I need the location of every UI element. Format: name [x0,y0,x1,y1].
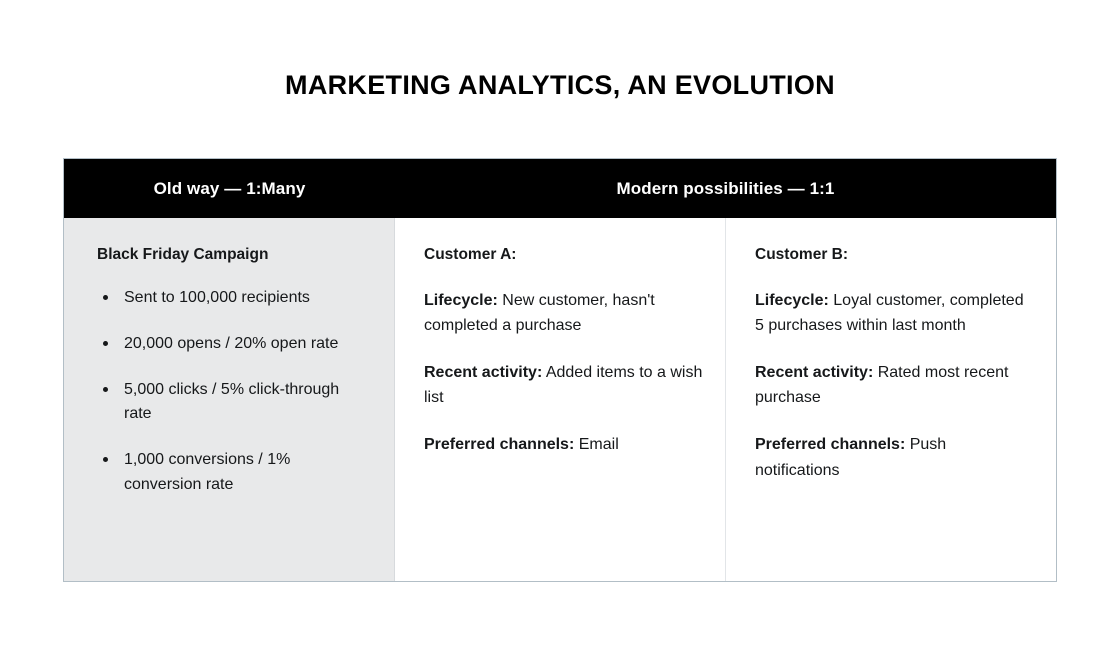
column-header-old-way: Old way — 1:Many [64,179,395,199]
list-item: 1,000 conversions / 1% conversion rate [97,448,370,498]
table-body: Black Friday Campaign Sent to 100,000 re… [64,218,1056,581]
list-item: Sent to 100,000 recipients [97,286,370,311]
fact-label: Recent activity: [755,364,873,381]
comparison-table: Old way — 1:Many Modern possibilities — … [63,158,1057,582]
column-old-way: Black Friday Campaign Sent to 100,000 re… [64,218,395,581]
list-item: 20,000 opens / 20% open rate [97,332,370,357]
list-item: 5,000 clicks / 5% click-through rate [97,378,370,428]
column-customer-a: Customer A: Lifecycle: New customer, has… [395,218,726,581]
customer-b-recent-activity: Recent activity: Rated most recent purch… [755,360,1032,410]
fact-label: Preferred channels: [755,436,905,453]
fact-label: Preferred channels: [424,436,574,453]
customer-a-recent-activity: Recent activity: Added items to a wish l… [424,360,705,410]
column-header-modern-possibilities: Modern possibilities — 1:1 [395,179,1056,199]
fact-label: Lifecycle: [755,292,829,309]
old-way-heading: Black Friday Campaign [97,246,370,264]
customer-a-preferred-channels: Preferred channels: Email [424,432,705,457]
customer-a-lifecycle: Lifecycle: New customer, hasn't complete… [424,288,705,338]
customer-b-heading: Customer B: [755,246,1032,264]
fact-value: Email [579,436,619,453]
customer-a-heading: Customer A: [424,246,705,264]
page-title: MARKETING ANALYTICS, AN EVOLUTION [0,70,1120,101]
fact-label: Lifecycle: [424,292,498,309]
table-header-row: Old way — 1:Many Modern possibilities — … [64,159,1056,218]
column-customer-b: Customer B: Lifecycle: Loyal customer, c… [726,218,1056,581]
customer-b-preferred-channels: Preferred channels: Push notifications [755,432,1032,482]
customer-b-lifecycle: Lifecycle: Loyal customer, completed 5 p… [755,288,1032,338]
old-way-bullet-list: Sent to 100,000 recipients 20,000 opens … [97,286,370,498]
fact-label: Recent activity: [424,364,542,381]
